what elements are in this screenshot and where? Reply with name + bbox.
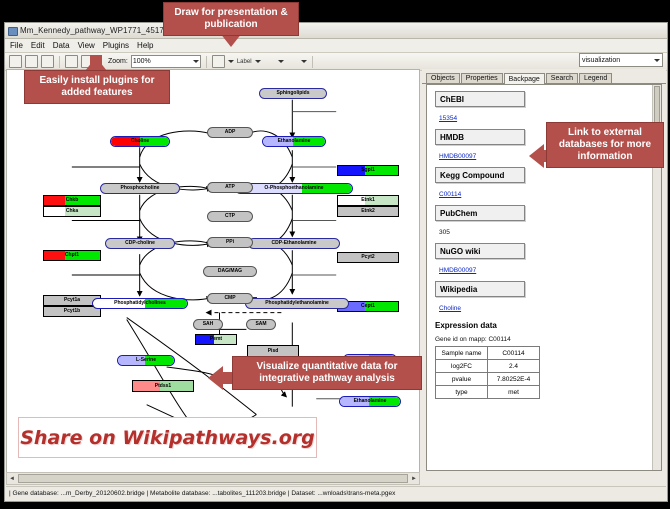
expr-val-log2fc: 2.4 <box>488 360 540 373</box>
expression-table: Sample name C00114 log2FC 2.4 pvalue 7.8… <box>435 346 540 399</box>
copy-icon[interactable] <box>65 55 78 68</box>
callout-plugins-arrow <box>85 57 107 71</box>
anchor-chevron-down-icon[interactable] <box>301 60 307 63</box>
scroll-left-icon[interactable]: ◄ <box>7 476 17 482</box>
share-text: Share on Wikipathways.org <box>20 427 314 449</box>
table-row: log2FC 2.4 <box>436 360 540 373</box>
expr-val-sample-name: C00114 <box>488 347 540 360</box>
statusbar: | Gene database: ...m_Derby_20120602.bri… <box>6 486 666 500</box>
scroll-right-icon[interactable]: ► <box>409 476 419 482</box>
line-chevron-down-icon[interactable] <box>278 60 284 63</box>
metabolite-choline[interactable]: Choline <box>110 136 170 147</box>
gene-pemt[interactable]: Pemt <box>195 334 237 345</box>
db-title-nugo-wiki: NuGO wiki <box>435 243 525 259</box>
gene-etnk1[interactable]: Etnk1 <box>337 195 399 206</box>
datanode-icon[interactable] <box>212 55 225 68</box>
table-row: type met <box>436 386 540 399</box>
group-icon[interactable] <box>332 56 343 67</box>
menu-view[interactable]: View <box>78 41 95 50</box>
callout-plugins: Easily install plugins for added feature… <box>24 70 170 104</box>
metabolite-sphingolipids[interactable]: Sphingolipids <box>259 88 327 99</box>
metabolite-cdp-ethanolamine[interactable]: CDP-Ethanolamine <box>248 238 340 249</box>
expr-key-sample-name: Sample name <box>436 347 488 360</box>
print-icon[interactable] <box>374 56 385 67</box>
statusbar-text: | Gene database: ...m_Derby_20120602.bri… <box>9 490 395 497</box>
expr-key-log2fc: log2FC <box>436 360 488 373</box>
line-icon[interactable] <box>264 56 275 67</box>
chevron-down-icon <box>193 60 199 63</box>
tab-objects[interactable]: Objects <box>426 73 460 83</box>
menu-data[interactable]: Data <box>53 41 70 50</box>
expression-data-header: Expression data <box>435 321 655 330</box>
toolbar-separator-4 <box>312 56 313 68</box>
db-title-chebi: ChEBI <box>435 91 525 107</box>
gene-id-line: Gene id on mapp: C00114 <box>435 336 655 343</box>
menubar: File Edit Data View Plugins Help <box>5 39 667 53</box>
gene-pcyt2[interactable]: Pcyt2 <box>337 252 399 263</box>
label-dropdown[interactable]: Label <box>237 59 252 65</box>
expr-key-type: type <box>436 386 488 399</box>
db-link-chebi[interactable]: 15354 <box>439 115 457 122</box>
label-chevron-down-icon[interactable] <box>255 60 261 63</box>
tab-properties[interactable]: Properties <box>461 73 503 83</box>
hscroll-thumb[interactable] <box>18 474 408 483</box>
toolbar-separator-3 <box>206 56 207 68</box>
new-icon[interactable] <box>9 55 22 68</box>
callout-links: Link to external databases for more info… <box>546 122 664 168</box>
chevron-down-icon <box>654 59 660 62</box>
callout-visualize: Visualize quantitative data for integrat… <box>232 356 422 390</box>
db-link-nugo-wiki[interactable]: HMDB00097 <box>439 267 476 274</box>
pathway-canvas[interactable]: Chkb Chka Chpt1 Pcyt1a <box>6 69 420 473</box>
table-row: pvalue 7.80252E-4 <box>436 373 540 386</box>
visualization-value: visualization <box>582 57 620 64</box>
toolbar-separator-1 <box>59 56 60 68</box>
gene-chpt1[interactable]: Chpt1 <box>43 250 101 261</box>
cofactor-sam[interactable]: SAM <box>246 319 276 330</box>
side-panel-tabs: Objects Properties Backpage Search Legen… <box>422 69 666 84</box>
window-titlebar: Mm_Kennedy_pathway_WP1771_45176.gpml <box>5 23 667 39</box>
zoom-label: Zoom: <box>108 58 128 65</box>
db-title-wikipedia: Wikipedia <box>435 281 525 297</box>
cofactor-dagmag[interactable]: DAG/MAG <box>203 266 257 277</box>
menu-plugins[interactable]: Plugins <box>103 41 129 50</box>
align-icon[interactable] <box>318 56 329 67</box>
callout-links-arrow <box>529 144 544 168</box>
cofactor-ctp[interactable]: CTP <box>207 211 253 222</box>
link-icon[interactable] <box>388 56 399 67</box>
pathvisio-icon <box>8 26 17 35</box>
menu-help[interactable]: Help <box>137 41 153 50</box>
cofactor-ppi[interactable]: PPi <box>207 237 253 248</box>
metabolite-phosphatidylcholines[interactable]: Phosphatidylcholines <box>92 298 188 309</box>
visualization-combo[interactable]: visualization <box>579 53 663 67</box>
menu-file[interactable]: File <box>10 41 23 50</box>
gene-chkb[interactable]: Chkb <box>43 195 101 206</box>
stack-icon[interactable] <box>346 56 357 67</box>
table-row: Sample name C00114 <box>436 347 540 360</box>
db-link-hmdb[interactable]: HMDB00097 <box>439 153 476 160</box>
cofactor-adp[interactable]: ADP <box>207 127 253 138</box>
order-icon[interactable] <box>360 56 371 67</box>
pathway-diagram: Chkb Chka Chpt1 Pcyt1a <box>7 70 419 472</box>
cofactor-sah[interactable]: SAH <box>193 319 223 330</box>
db-value-pubchem: 305 <box>439 229 450 236</box>
zoom-value: 100% <box>133 58 151 65</box>
save-icon[interactable] <box>41 55 54 68</box>
callout-visualize-arrow <box>208 366 223 390</box>
db-link-wikipedia[interactable]: Choline <box>439 305 461 312</box>
metabolite-cdp-choline[interactable]: CDP-choline <box>105 238 175 249</box>
gene-sgpl1[interactable]: Sgpl1 <box>337 165 399 176</box>
open-icon[interactable] <box>25 55 38 68</box>
tab-search[interactable]: Search <box>546 73 578 83</box>
gene-chka[interactable]: Chka <box>43 206 101 217</box>
gene-pcyt1b[interactable]: Pcyt1b <box>43 306 101 317</box>
anchor-icon[interactable] <box>287 56 298 67</box>
canvas-hscrollbar[interactable]: ◄ ► <box>6 472 420 485</box>
cofactor-cmp[interactable]: CMP <box>207 293 253 304</box>
tab-backpage[interactable]: Backpage <box>504 73 545 84</box>
tab-legend[interactable]: Legend <box>579 73 612 83</box>
callout-draw: Draw for presentation & publication <box>163 2 299 36</box>
metabolite-l-serine-left[interactable]: L-Serine <box>117 355 175 366</box>
expr-key-pvalue: pvalue <box>436 373 488 386</box>
expr-val-type: met <box>488 386 540 399</box>
gene-etnk2[interactable]: Etnk2 <box>337 206 399 217</box>
db-link-kegg-compound[interactable]: C00114 <box>439 191 461 198</box>
zoom-combo[interactable]: 100% <box>131 55 201 68</box>
db-title-kegg-compound: Kegg Compound <box>435 167 525 183</box>
metabolite-phosphatidylethanolamine[interactable]: Phosphatidylethanolamine <box>245 298 349 309</box>
db-title-hmdb: HMDB <box>435 129 525 145</box>
expr-val-pvalue: 7.80252E-4 <box>488 373 540 386</box>
metabolite-ethanolamine-top[interactable]: Ethanolamine <box>262 136 326 147</box>
db-title-pubchem: PubChem <box>435 205 525 221</box>
screenshot-root: Mm_Kennedy_pathway_WP1771_45176.gpml Fil… <box>0 0 670 509</box>
datanode-chevron-down-icon[interactable] <box>228 60 234 63</box>
cofactor-atp[interactable]: ATP <box>207 182 253 193</box>
metabolite-ethanolamine-bottom[interactable]: Ethanolamine <box>339 396 401 407</box>
metabolite-phosphocholine[interactable]: Phosphocholine <box>100 183 180 194</box>
menu-edit[interactable]: Edit <box>31 41 45 50</box>
gene-ptdss1[interactable]: Ptdss1 <box>132 380 194 392</box>
callout-share: Share on Wikipathways.org <box>18 417 317 458</box>
